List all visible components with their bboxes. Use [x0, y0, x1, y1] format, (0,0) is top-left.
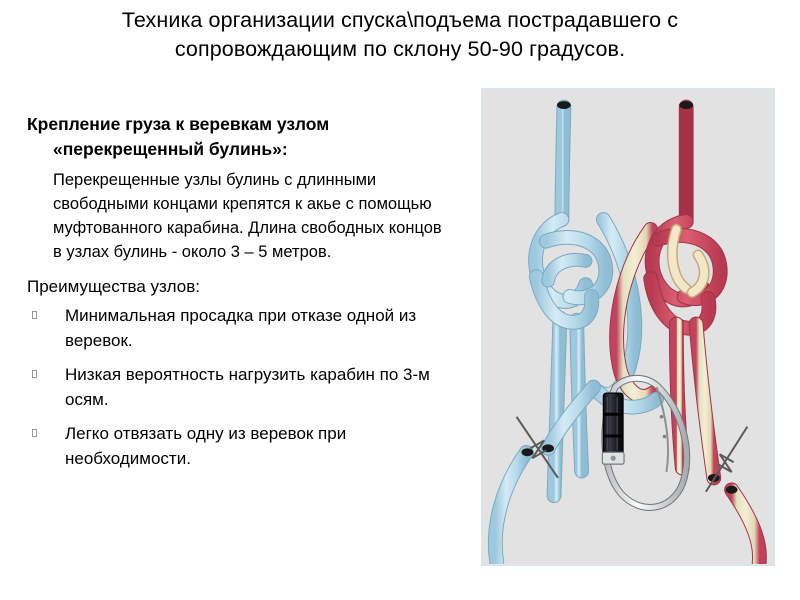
bullet-square-icon: [32, 429, 37, 437]
bullet-square-icon: [32, 311, 37, 319]
bullet-square-icon: [32, 370, 37, 378]
content-heading: Крепление груза к веревкам узлом «перекр…: [27, 112, 447, 162]
list-item: Легко отвязать одну из веревок при необх…: [27, 421, 447, 471]
slide-title: Техника организации спуска\подъема постр…: [40, 6, 760, 64]
blue-rope-tip: [557, 101, 571, 109]
text-content-column: Крепление груза к веревкам узлом «перекр…: [27, 112, 447, 480]
knot-illustration-image: [481, 88, 775, 566]
knot-diagram-svg: [483, 90, 773, 564]
list-item-label: Низкая вероятность нагрузить карабин по …: [65, 365, 430, 409]
content-heading-line-1: Крепление груза к веревкам узлом: [27, 112, 447, 137]
list-item-label: Минимальная просадка при отказе одной из…: [65, 306, 416, 350]
advantages-list: Минимальная просадка при отказе одной из…: [27, 303, 447, 471]
list-item: Низкая вероятность нагрузить карабин по …: [27, 362, 447, 412]
carabiner-locking-sleeve: [602, 393, 624, 464]
list-item: Минимальная просадка при отказе одной из…: [27, 303, 447, 353]
content-heading-line-2: «перекрещенный булинь»:: [27, 137, 447, 162]
list-item-label: Легко отвязать одну из веревок при необх…: [65, 424, 346, 468]
content-paragraph: Перекрещенные узлы булинь с длинными сво…: [27, 168, 447, 264]
advantages-subheading: Преимущества узлов:: [27, 274, 447, 299]
red-rope-tip: [679, 101, 693, 109]
